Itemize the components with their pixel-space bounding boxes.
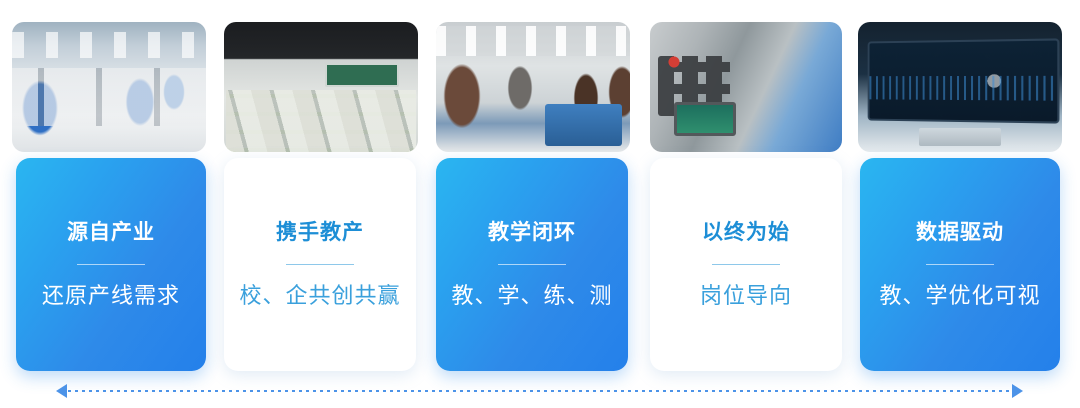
feature-card-3-subtitle: 教、学、练、测 (451, 285, 612, 307)
card-row: 源自产业 还原产线需求 携手教产 校、企共创共赢 教学闭环 教、学、练、测 以终… (0, 155, 1080, 375)
feature-cards-banner: 源自产业 还原产线需求 携手教产 校、企共创共赢 教学闭环 教、学、练、测 以终… (0, 0, 1080, 408)
photo-cleanroom-production-line (12, 22, 206, 152)
arrow-right-head-icon (1012, 384, 1023, 398)
flow-arrow (0, 375, 1080, 408)
feature-card-2[interactable]: 携手教产 校、企共创共赢 (224, 158, 416, 371)
feature-card-3-title: 教学闭环 (488, 222, 576, 243)
feature-card-1-divider (77, 264, 145, 265)
photo-row (0, 0, 1080, 155)
feature-card-1-subtitle: 还原产线需求 (42, 285, 180, 307)
feature-card-5-title: 数据驱动 (916, 222, 1004, 243)
feature-card-4-subtitle: 岗位导向 (700, 285, 792, 307)
photo-operator-machine-control-panel (650, 22, 842, 152)
feature-card-2-title: 携手教产 (276, 222, 364, 243)
arrow-left-head-icon (56, 384, 67, 398)
photo-electrical-training-classroom (224, 22, 418, 152)
feature-card-5[interactable]: 数据驱动 教、学优化可视 (860, 158, 1060, 371)
arrow-dotted-line (68, 390, 1012, 392)
feature-card-4-divider (712, 264, 780, 265)
feature-card-5-divider (926, 264, 994, 265)
feature-card-3[interactable]: 教学闭环 教、学、练、测 (436, 158, 628, 371)
photo-data-dashboard-screen (858, 22, 1062, 152)
feature-card-4[interactable]: 以终为始 岗位导向 (650, 158, 842, 371)
feature-card-5-subtitle: 教、学优化可视 (879, 285, 1040, 307)
feature-card-4-title: 以终为始 (702, 222, 790, 243)
photo-teacher-and-students-lab (436, 22, 630, 152)
feature-card-1[interactable]: 源自产业 还原产线需求 (16, 158, 206, 371)
feature-card-2-subtitle: 校、企共创共赢 (239, 285, 400, 307)
feature-card-3-divider (498, 264, 566, 265)
feature-card-2-divider (286, 264, 354, 265)
feature-card-1-title: 源自产业 (67, 222, 155, 243)
